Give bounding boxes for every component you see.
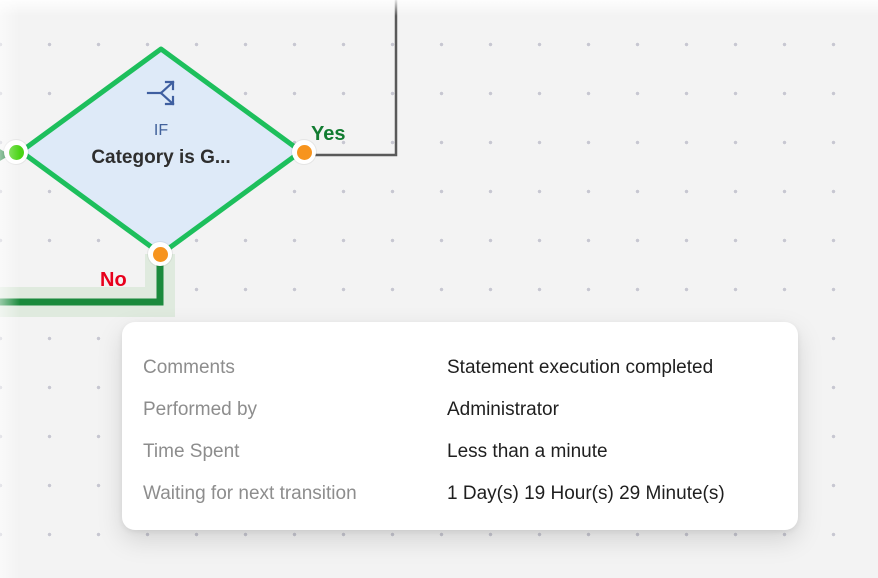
detail-value-waiting-for-next-transition: 1 Day(s) 19 Hour(s) 29 Minute(s) bbox=[447, 481, 725, 507]
no-output-port[interactable] bbox=[148, 242, 172, 266]
detail-value-performed-by: Administrator bbox=[447, 397, 559, 423]
workflow-canvas[interactable]: IF Category is G... Yes No Comments Stat… bbox=[0, 0, 878, 578]
table-row: Comments Statement execution completed bbox=[143, 355, 783, 397]
edge-label-no[interactable]: No bbox=[100, 270, 127, 290]
details-table: Comments Statement execution completed P… bbox=[143, 355, 783, 523]
decision-node[interactable]: IF Category is G... bbox=[17, 45, 305, 258]
detail-label-waiting-for-next-transition: Waiting for next transition bbox=[143, 481, 447, 507]
detail-label-comments: Comments bbox=[143, 355, 447, 381]
table-row: Performed by Administrator bbox=[143, 397, 783, 439]
edge-label-yes[interactable]: Yes bbox=[311, 124, 345, 144]
edge-no-highlight-glow bbox=[0, 254, 160, 302]
detail-label-time-spent: Time Spent bbox=[143, 439, 447, 465]
detail-label-performed-by: Performed by bbox=[143, 397, 447, 423]
step-details-tooltip[interactable]: Comments Statement execution completed P… bbox=[122, 322, 798, 530]
input-port[interactable] bbox=[4, 140, 28, 164]
detail-value-comments: Statement execution completed bbox=[447, 355, 713, 381]
table-row: Time Spent Less than a minute bbox=[143, 439, 783, 481]
table-row: Waiting for next transition 1 Day(s) 19 … bbox=[143, 481, 783, 523]
decision-diamond-shape[interactable] bbox=[17, 45, 305, 258]
detail-value-time-spent: Less than a minute bbox=[447, 439, 608, 465]
